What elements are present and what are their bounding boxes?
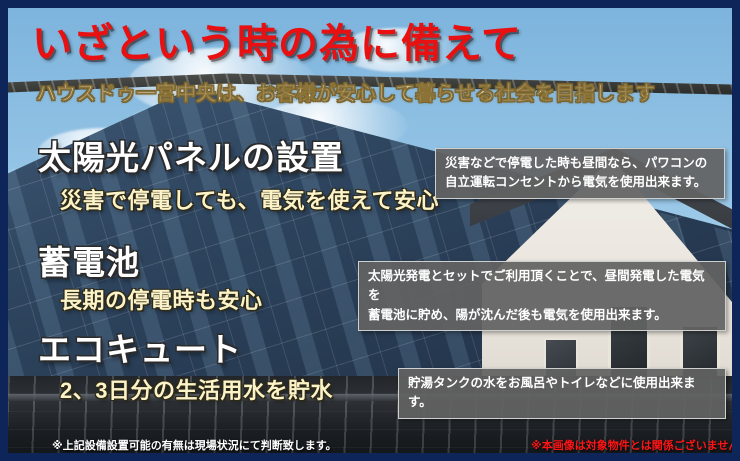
feature-heading-solar: 太陽光パネルの設置	[38, 131, 344, 179]
disclaimer-equipment: ※上記設備設置可能の有無は現場状況にて判断致します。	[52, 437, 337, 453]
feature-heading-battery: 蓄電池	[38, 236, 140, 284]
page-title: いざという時の為に備えて	[32, 24, 522, 64]
feature-subheading-ecocute: 2、3日分の生活用水を貯水	[60, 373, 333, 405]
callout-solar: 災害などで停電した時も昼間なら、パワコンの 自立運転コンセントから電気を使用出来…	[435, 148, 725, 199]
callout-battery: 太陽光発電とセットでご利用頂くことで、昼間発電した電気を 蓄電池に貯め、陽が沈ん…	[358, 261, 726, 331]
feature-subheading-solar: 災害で停電しても、電気を使えて安心	[60, 183, 439, 215]
banner-inner-frame: いざという時の為に備えて ハウスドゥ一宮中央は、お客様が安心して暮らせる社会を目…	[8, 8, 732, 453]
promo-banner: いざという時の為に備えて ハウスドゥ一宮中央は、お客様が安心して暮らせる社会を目…	[0, 0, 740, 461]
feature-subheading-battery: 長期の停電時も安心	[60, 283, 263, 315]
page-subtitle: ハウスドゥ一宮中央は、お客様が安心して暮らせる社会を目指します	[36, 77, 655, 106]
callout-ecocute: 貯湯タンクの水をお風呂やトイレなどに使用出来ます。	[398, 368, 726, 419]
disclaimer-image: ※本画像は対象物件とは関係ございません。	[531, 437, 732, 453]
feature-heading-ecocute: エコキュート	[38, 323, 242, 371]
